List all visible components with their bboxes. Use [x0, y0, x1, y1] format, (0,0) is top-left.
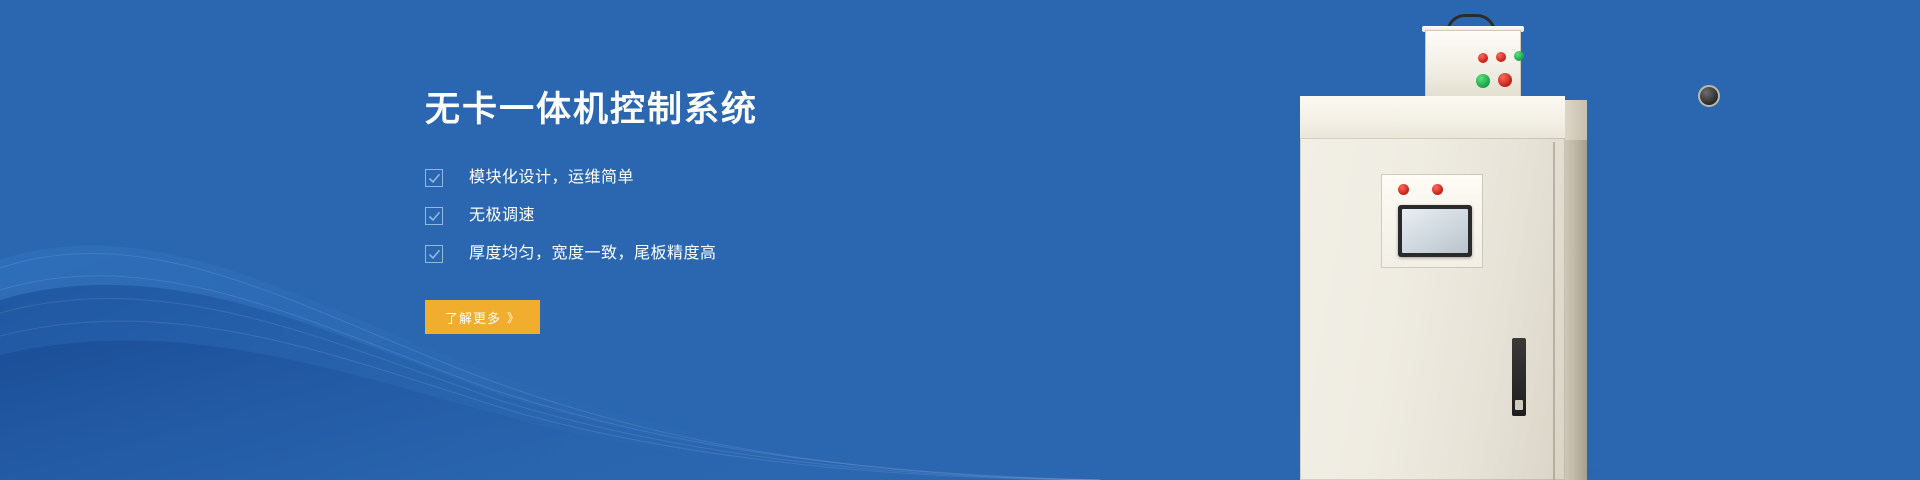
banner-content: 无卡一体机控制系统 模块化设计，运维简单 无极调速 厚度均匀，宽度一致，尾板精度…	[425, 88, 895, 334]
control-cabinet-photo	[1160, 0, 1920, 480]
touchscreen-display	[1402, 209, 1468, 253]
control-box	[1425, 30, 1521, 98]
cabinet-top-side	[1565, 100, 1587, 140]
touchscreen-bezel	[1398, 205, 1472, 257]
panel-lamp-red-1	[1398, 184, 1409, 195]
list-item: 模块化设计，运维简单	[425, 168, 895, 188]
feature-label: 模块化设计，运维简单	[469, 168, 634, 188]
checkbox-checked-icon	[425, 169, 443, 187]
indicator-lamp-green-1	[1514, 51, 1524, 61]
chevron-right-icon: 》	[507, 309, 520, 326]
learn-more-label: 了解更多	[445, 308, 501, 327]
checkbox-checked-icon	[425, 207, 443, 225]
indicator-lamp-red-3	[1498, 73, 1512, 87]
indicator-lamp-red-1	[1478, 53, 1488, 63]
checkbox-checked-icon	[425, 245, 443, 263]
feature-label: 无极调速	[469, 206, 535, 226]
page-title: 无卡一体机控制系统	[425, 88, 895, 132]
list-item: 厚度均匀，宽度一致，尾板精度高	[425, 244, 895, 264]
cabinet-top-cap	[1300, 96, 1565, 140]
hero-banner: 无卡一体机控制系统 模块化设计，运维简单 无极调速 厚度均匀，宽度一致，尾板精度…	[0, 0, 1920, 480]
indicator-lamp-green-2	[1476, 74, 1490, 88]
cabinet-side-panel	[1565, 140, 1587, 480]
cabinet-door-seam	[1553, 142, 1555, 480]
feature-list: 模块化设计，运维简单 无极调速 厚度均匀，宽度一致，尾板精度高	[425, 168, 895, 264]
list-item: 无极调速	[425, 206, 895, 226]
cabinet-vent-hole	[1515, 400, 1523, 410]
cabinet-vent	[1512, 338, 1526, 416]
learn-more-button[interactable]: 了解更多 》	[425, 300, 540, 334]
rotary-knob-icon	[1698, 85, 1720, 107]
panel-lamp-red-2	[1432, 184, 1443, 195]
feature-label: 厚度均匀，宽度一致，尾板精度高	[469, 244, 717, 264]
indicator-lamp-red-2	[1496, 52, 1506, 62]
